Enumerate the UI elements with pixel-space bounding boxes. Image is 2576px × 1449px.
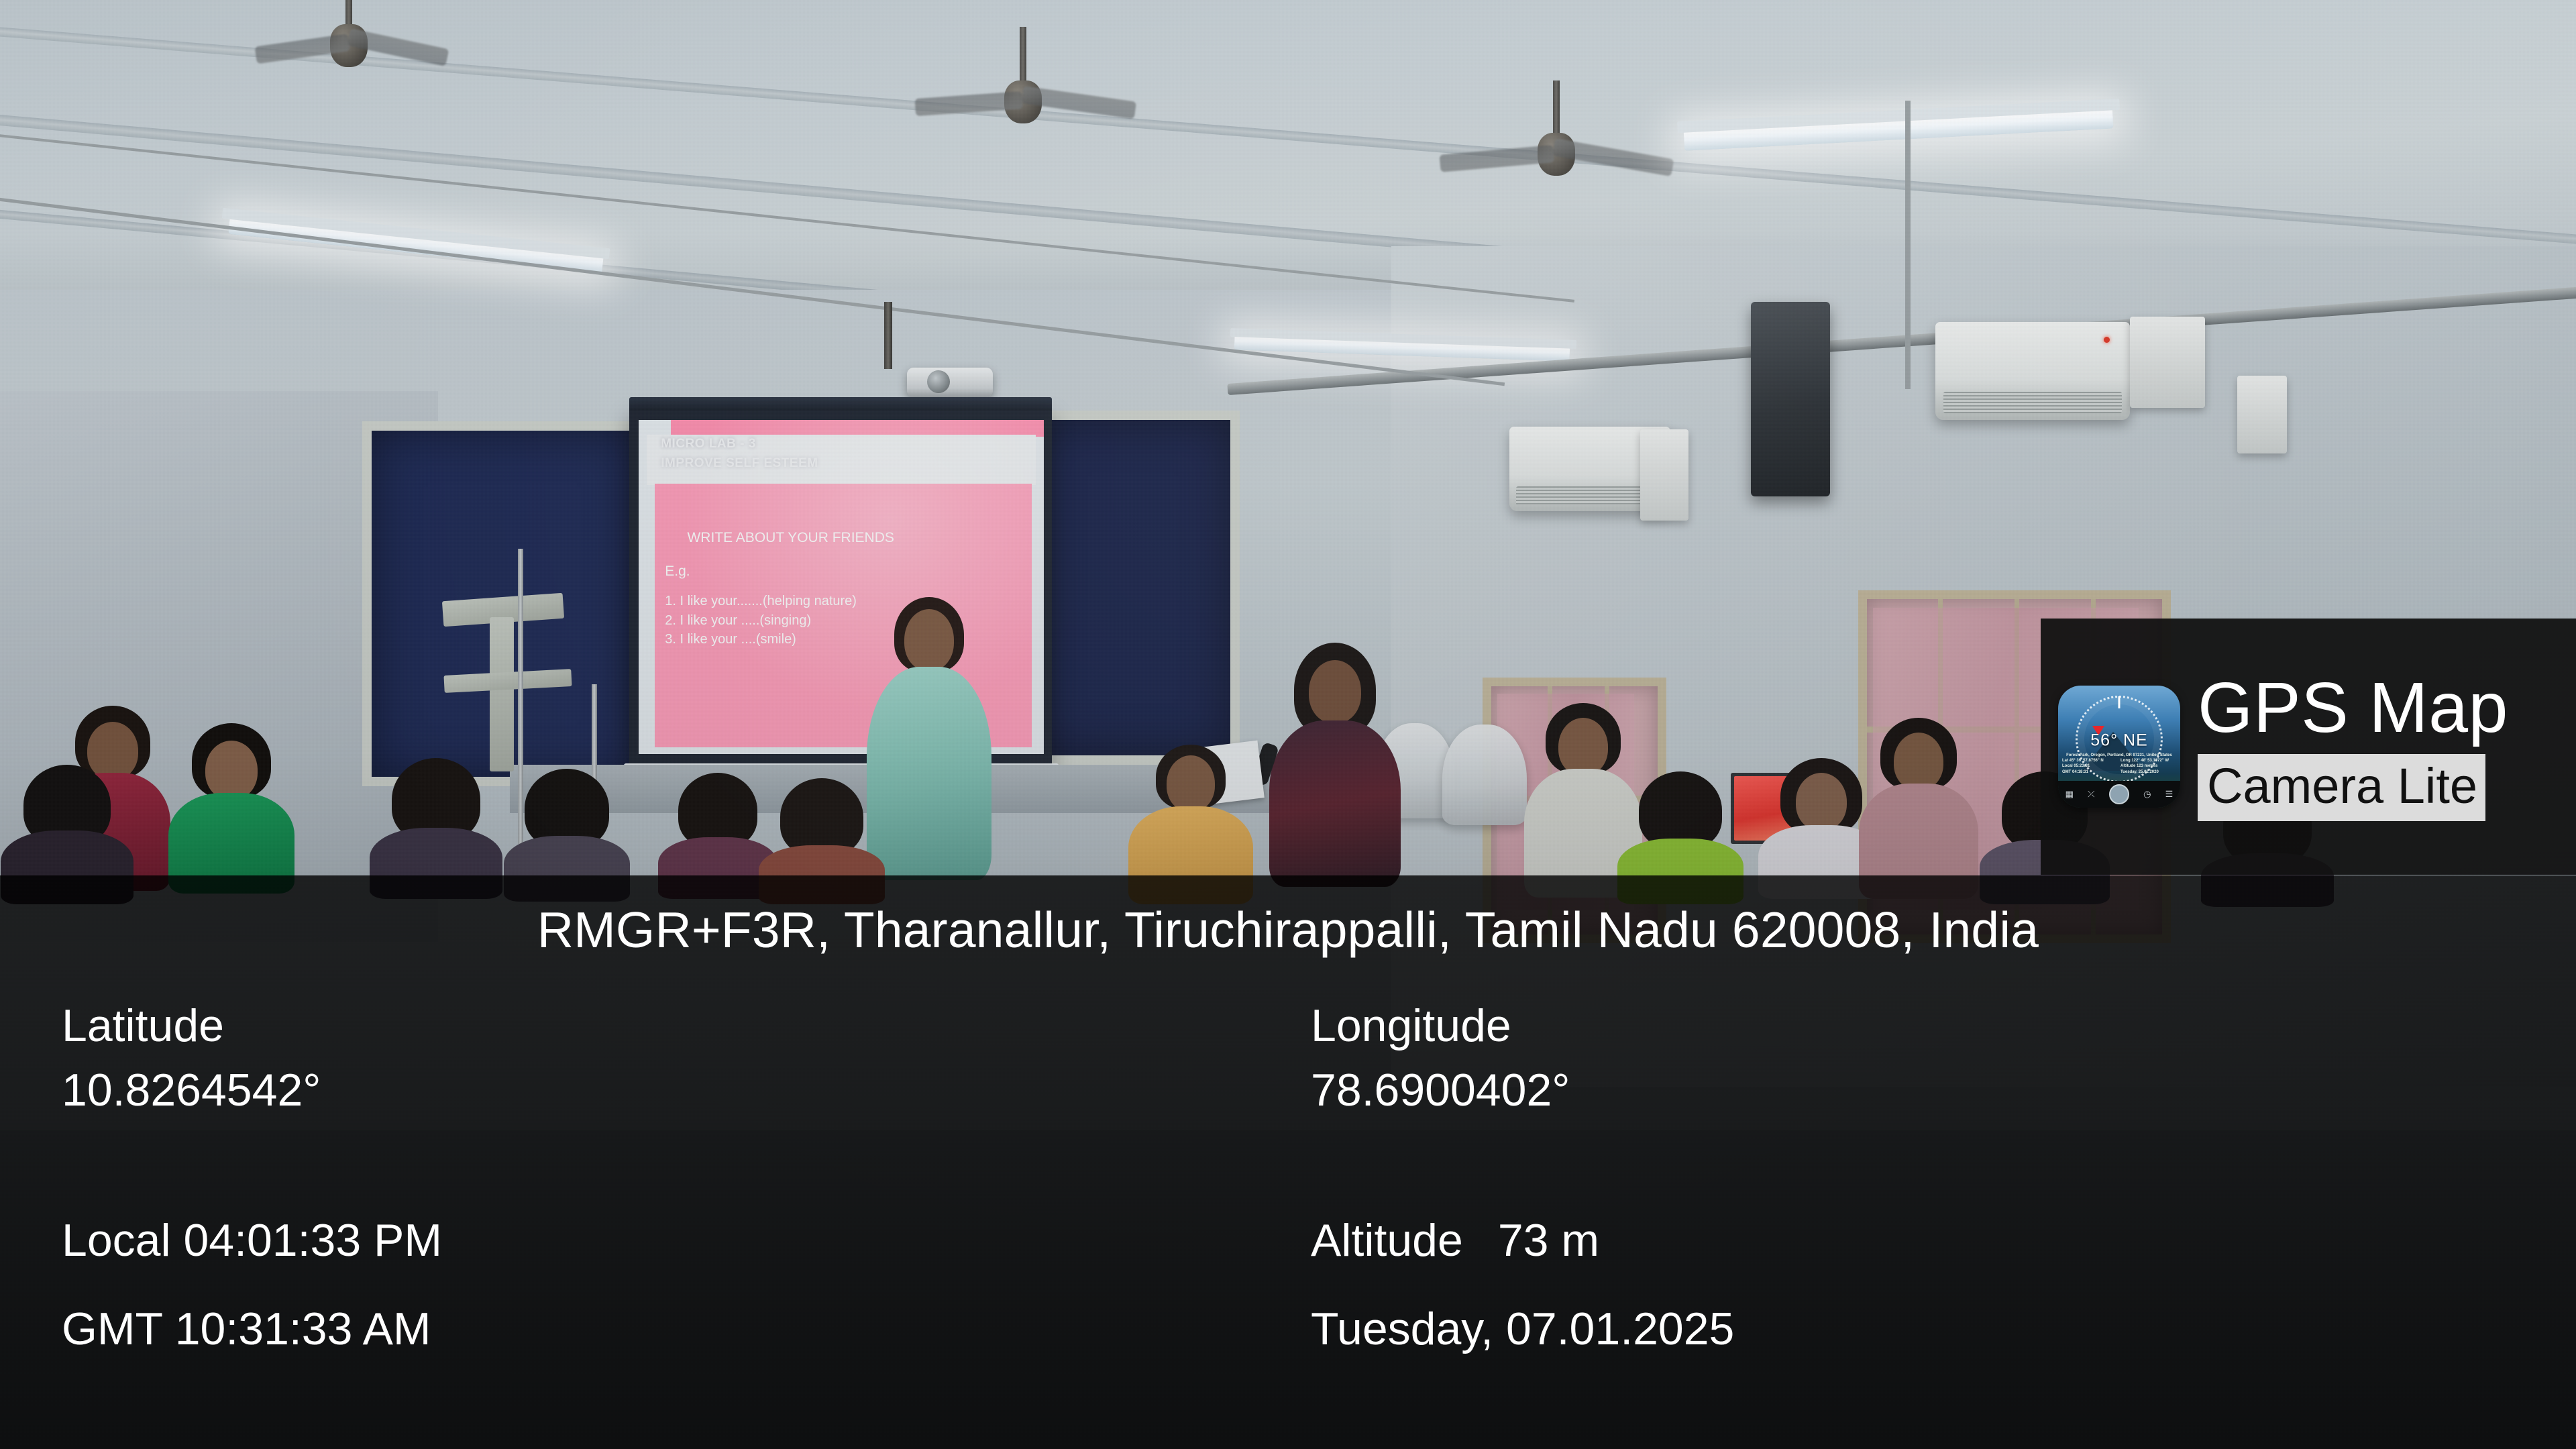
local-time: Local 04:01:33 PM (62, 1218, 442, 1263)
timer-icon: ◷ (2143, 789, 2151, 800)
ac-control-box-right (2130, 317, 2205, 408)
app-icon-toolbar: ▦ ⤫ ◷ ☰ (2058, 781, 2180, 808)
gps-column-left: Latitude 10.8264542° Local 04:01:33 PM G… (62, 1003, 321, 1113)
compass-heading-value: 56° NE (2090, 731, 2147, 750)
participant-with-microphone (1268, 643, 1402, 884)
latitude-label: Latitude (62, 1003, 321, 1049)
shutter-icon (2109, 784, 2129, 804)
projector-mount-arm (884, 302, 892, 369)
altitude-value: 73 m (1498, 1215, 1599, 1266)
longitude-label: Longitude (1311, 1003, 1570, 1049)
wall-speaker (1751, 302, 1830, 496)
app-icon-info: Forest Park, Oregon, Portland, OR 97231,… (2058, 751, 2180, 781)
gps-map-camera-watermark: 56° NE Forest Park, Oregon, Portland, OR… (2041, 619, 2576, 875)
latitude-value: 10.8264542° (62, 1067, 321, 1113)
app-icon-local: Local 05:23:31 (2062, 763, 2118, 769)
grid-icon: ▦ (2065, 789, 2074, 800)
air-conditioner-right (1935, 322, 2130, 420)
wall-switch-box (2237, 376, 2287, 453)
ceiling-fan-1 (295, 0, 402, 80)
longitude-value: 78.6900402° (1311, 1067, 1570, 1113)
shuffle-icon: ⤫ (2088, 789, 2094, 800)
slide-heading: WRITE ABOUT YOUR FRIENDS (687, 530, 894, 546)
altitude-row: Altitude73 m (1311, 1218, 1599, 1263)
menu-icon: ☰ (2165, 789, 2173, 800)
app-icon-gmt: GMT 04:18:31 (2062, 769, 2118, 775)
audience-left-2 (168, 723, 295, 888)
app-icon: 56° NE Forest Park, Oregon, Portland, OR… (2058, 686, 2180, 808)
photo-screenshot: MICRO LAB - 3 IMPROVE SELF ESTEEM WRITE … (0, 0, 2576, 1449)
slide-example-2: 2. I like your .....(singing) (665, 611, 857, 630)
stage-chair-2 (1442, 724, 1527, 825)
watermark-title: GPS Map (2198, 672, 2564, 743)
app-icon-lat: Lat 45° 36' 57.8756" N (2062, 758, 2118, 763)
app-icon-place: Forest Park, Oregon, Portland, OR 97231,… (2062, 753, 2176, 758)
gmt-time: GMT 10:31:33 AM (62, 1306, 431, 1352)
lectern-post (490, 617, 514, 771)
app-icon-lng: Long 122° 48' 53.1372" W (2121, 758, 2176, 763)
ceiling-fan-2 (966, 27, 1080, 141)
wall-drop-wire (1905, 101, 1911, 389)
ceiling-fan-3 (1496, 80, 1617, 201)
gps-column-right: Longitude 78.6900402° Altitude73 m Tuesd… (1311, 1003, 1570, 1113)
slide-example-3: 3. I like your ....(smile) (665, 630, 857, 649)
app-icon-date: Tuesday, 25.02.2020 (2121, 769, 2176, 775)
notice-board-right (1026, 411, 1240, 765)
compass-north-marker (2118, 696, 2121, 708)
gps-address: RMGR+F3R, Tharanallur, Tiruchirappalli, … (0, 901, 2576, 959)
capture-date: Tuesday, 07.01.2025 (1311, 1306, 1734, 1352)
slide-title-line1: MICRO LAB - 3 (661, 437, 756, 451)
projector-lens (927, 370, 950, 393)
projector (907, 368, 993, 397)
gps-info-overlay: RMGR+F3R, Tharanallur, Tiruchirappalli, … (0, 875, 2576, 1449)
app-icon-altitude: Altitude 123 metres (2121, 763, 2176, 769)
slide-title-line2: IMPROVE SELF ESTEEM (661, 457, 818, 471)
slide-examples-list: 1. I like your.......(helping nature) 2.… (665, 592, 857, 649)
ac-control-box-left (1640, 429, 1688, 521)
slide-example-label: E.g. (665, 563, 690, 580)
slide-example-1: 1. I like your.......(helping nature) (665, 592, 857, 610)
audience-right-4 (1858, 718, 1979, 892)
watermark-subtitle: Camera Lite (2198, 754, 2485, 820)
audience-left-4 (369, 758, 503, 892)
altitude-label: Altitude (1311, 1215, 1463, 1266)
